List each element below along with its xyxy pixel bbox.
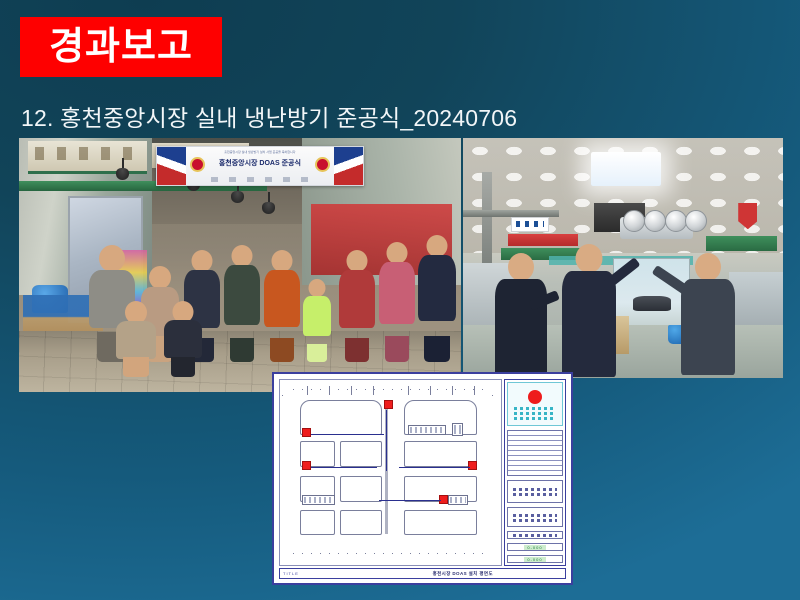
congratulation-banner: 홍천중앙시장 실내 냉난방기 설치 사업 준공을 축하합니다 홍천중앙시장 DO… <box>156 146 364 187</box>
hvac-duct-icon <box>644 210 666 232</box>
banner-seal-left <box>190 157 205 172</box>
equipment-symbol <box>302 495 335 505</box>
equipment-symbol <box>452 423 463 436</box>
drawing-number-cell-1: 0-000 <box>507 543 563 551</box>
duct-route-arrow <box>311 467 377 468</box>
person-legs <box>171 357 195 377</box>
person-torso <box>224 265 260 325</box>
person-head <box>232 245 253 267</box>
plan-room <box>300 510 335 536</box>
person-torso <box>303 296 331 336</box>
ceiling-light-panel <box>591 152 661 186</box>
person-head <box>192 250 213 272</box>
person-head <box>309 279 326 297</box>
person-torso <box>339 270 375 328</box>
person-torso <box>418 255 456 321</box>
cell-text-line <box>513 519 556 522</box>
drawing-name-cell <box>507 507 563 527</box>
banner-seal-right <box>315 157 330 172</box>
drawing-number-cell-2: 0-000 <box>507 555 563 563</box>
scale-cell <box>507 531 563 539</box>
person-head <box>386 242 407 264</box>
interior-hvac-duct-photo <box>463 138 783 378</box>
person-suit <box>495 279 547 377</box>
dimension-tick <box>351 386 352 395</box>
stamp-seal-icon <box>528 390 542 404</box>
duct-route-arrow-vertical <box>386 410 387 471</box>
dimension-line-bottom <box>293 553 488 554</box>
presentation-slide: 경과보고 12. 홍천중앙시장 실내 냉난방기 준공식_20240706 홍천중… <box>0 0 800 600</box>
person-torso <box>164 320 202 358</box>
revision-row <box>508 466 562 471</box>
banner-corner-right <box>334 147 363 186</box>
person-head <box>426 235 447 257</box>
stamp-line <box>514 412 555 415</box>
stamp-line <box>514 417 555 420</box>
dimension-line-right <box>492 395 499 396</box>
person-torso <box>379 262 415 324</box>
banner-small-text: 홍천중앙시장 실내 냉난방기 설치 사업 준공을 축하합니다 <box>198 150 321 154</box>
blueprint-plan-area <box>279 379 502 566</box>
doas-unit-marker <box>302 428 311 437</box>
person-head <box>508 253 534 281</box>
person-legs <box>270 338 294 362</box>
dimension-tick <box>452 386 453 395</box>
person-legs <box>307 344 327 362</box>
doas-unit-marker <box>302 461 311 470</box>
duct-route-arrow <box>311 434 384 435</box>
duct-route-arrow <box>399 467 470 468</box>
person-head <box>149 266 171 289</box>
duct-route-arrow <box>379 500 441 501</box>
dimension-tick <box>408 386 409 395</box>
group-photo-market-corridor: 홍천중앙시장 실내 냉난방기 설치 사업 준공을 축하합니다 홍천중앙시장 DO… <box>19 138 461 392</box>
blueprint-inner: 0-000 0-000 TITLE 홍천시장 DOAS 설치 평면도 <box>277 377 568 580</box>
official-person-center <box>556 244 623 378</box>
equipment-symbol <box>408 425 446 434</box>
person-in-suit <box>412 235 461 362</box>
drawing-number-2: 0-000 <box>524 557 545 562</box>
doas-unit-marker <box>439 495 448 504</box>
person-head <box>695 253 721 281</box>
equipment-symbol <box>448 495 468 505</box>
person-head <box>347 250 368 272</box>
person-torso <box>264 270 300 327</box>
cell-text-line <box>513 534 556 537</box>
plan-room <box>404 441 477 467</box>
revision-table <box>507 430 563 476</box>
hvac-duct-icon <box>623 210 645 232</box>
shop-sign-green-right <box>706 236 776 250</box>
hvac-duct-icon <box>665 210 687 232</box>
cell-text-line <box>513 488 556 491</box>
footer-title-label: TITLE <box>280 571 299 576</box>
stamp-line <box>514 407 555 410</box>
person-head <box>99 245 125 272</box>
plan-room <box>340 476 382 502</box>
person-shirt <box>681 279 735 375</box>
plan-room <box>340 510 382 536</box>
plan-room <box>300 400 382 435</box>
approval-stamp <box>507 382 563 426</box>
person-legs <box>424 336 450 362</box>
shop-sign-blue <box>511 217 549 231</box>
ceiling-rail <box>463 210 559 217</box>
child-in-crowd <box>297 275 337 361</box>
dimension-tick <box>474 386 475 395</box>
person-torso <box>116 321 156 359</box>
banner-corner-left <box>157 147 186 186</box>
person-legs <box>123 357 149 377</box>
drawing-number-1: 0-000 <box>524 545 545 550</box>
person-head <box>576 244 603 273</box>
person-legs <box>230 338 254 362</box>
person-head <box>271 250 292 272</box>
dimension-tick <box>373 386 374 395</box>
doas-unit-marker <box>384 400 393 409</box>
slide-title-text: 경과보고 <box>49 28 193 66</box>
plan-room <box>340 441 382 467</box>
cell-text-line <box>513 514 556 517</box>
support-beam <box>482 172 492 263</box>
blueprint-footer: TITLE 홍천시장 DOAS 설치 평면도 <box>279 568 566 579</box>
person-legs <box>345 338 369 362</box>
dimension-line-top <box>293 389 488 390</box>
dimension-tick <box>430 386 431 395</box>
hanging-lamp-icon <box>262 202 275 214</box>
blueprint-title-block: 0-000 0-000 <box>504 379 566 566</box>
slide-title-badge: 경과보고 <box>20 17 222 77</box>
banner-sponsor-logos <box>211 177 310 182</box>
cell-text-line <box>513 493 556 496</box>
plan-room <box>404 510 477 536</box>
person-legs <box>385 336 409 362</box>
dimension-tick <box>329 386 330 395</box>
parked-car <box>633 296 671 310</box>
official-person-right <box>674 253 741 378</box>
banner-main-text: 홍천중앙시장 DOAS 준공식 <box>206 158 313 168</box>
dimension-line-left <box>282 395 289 396</box>
slide-subtitle: 12. 홍천중앙시장 실내 냉난방기 준공식_20240706 <box>21 99 517 133</box>
project-name-cell <box>507 480 563 503</box>
footer-drawing-title: 홍천시장 DOAS 설치 평면도 <box>433 571 493 577</box>
doas-unit-marker <box>468 461 477 470</box>
official-person-left <box>489 253 553 378</box>
shop-sign-left <box>28 141 147 174</box>
person-front-row <box>156 301 209 377</box>
dimension-tick <box>307 386 308 395</box>
doas-installation-floor-plan: 0-000 0-000 TITLE 홍천시장 DOAS 설치 평면도 <box>272 372 573 585</box>
